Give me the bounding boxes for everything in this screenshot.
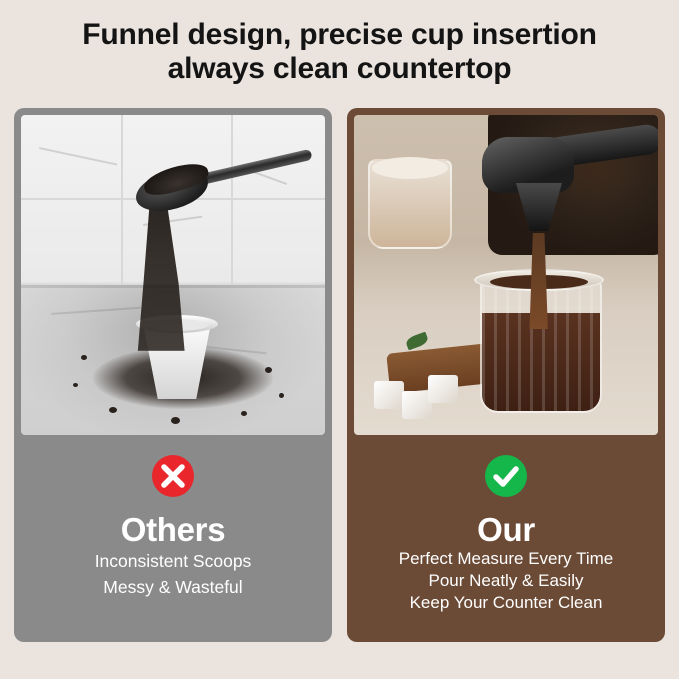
status-badge-negative [149, 452, 197, 500]
caption-line-others-2: Messy & Wasteful [14, 574, 332, 600]
photo-our [354, 115, 658, 435]
caption-line-our-3: Keep Your Counter Clean [347, 592, 665, 614]
photo-others [21, 115, 325, 435]
headline-line-2: always clean countertop [0, 52, 679, 86]
panels-container: Others Inconsistent Scoops Messy & Waste… [14, 108, 665, 642]
status-badge-positive [482, 452, 530, 500]
panel-others: Others Inconsistent Scoops Messy & Waste… [14, 108, 332, 642]
sugar-cubes [374, 367, 464, 423]
coffee-dispenser [482, 137, 600, 245]
page-title: Funnel design, precise cup insertion alw… [0, 18, 679, 86]
latte-glass [364, 143, 460, 253]
desaturation-overlay [21, 115, 325, 435]
caption-line-our-2: Pour Neatly & Easily [347, 570, 665, 592]
panel-our: Our Perfect Measure Every Time Pour Neat… [347, 108, 665, 642]
headline-line-1: Funnel design, precise cup insertion [82, 18, 597, 51]
caption-our: Our Perfect Measure Every Time Pour Neat… [347, 512, 665, 614]
caption-others: Others Inconsistent Scoops Messy & Waste… [14, 512, 332, 600]
caption-title-others: Others [14, 512, 332, 548]
comparison-infographic: Funnel design, precise cup insertion alw… [0, 0, 679, 679]
caption-line-others-1: Inconsistent Scoops [14, 548, 332, 574]
caption-line-our-1: Perfect Measure Every Time [347, 548, 665, 570]
caption-title-our: Our [347, 512, 665, 548]
